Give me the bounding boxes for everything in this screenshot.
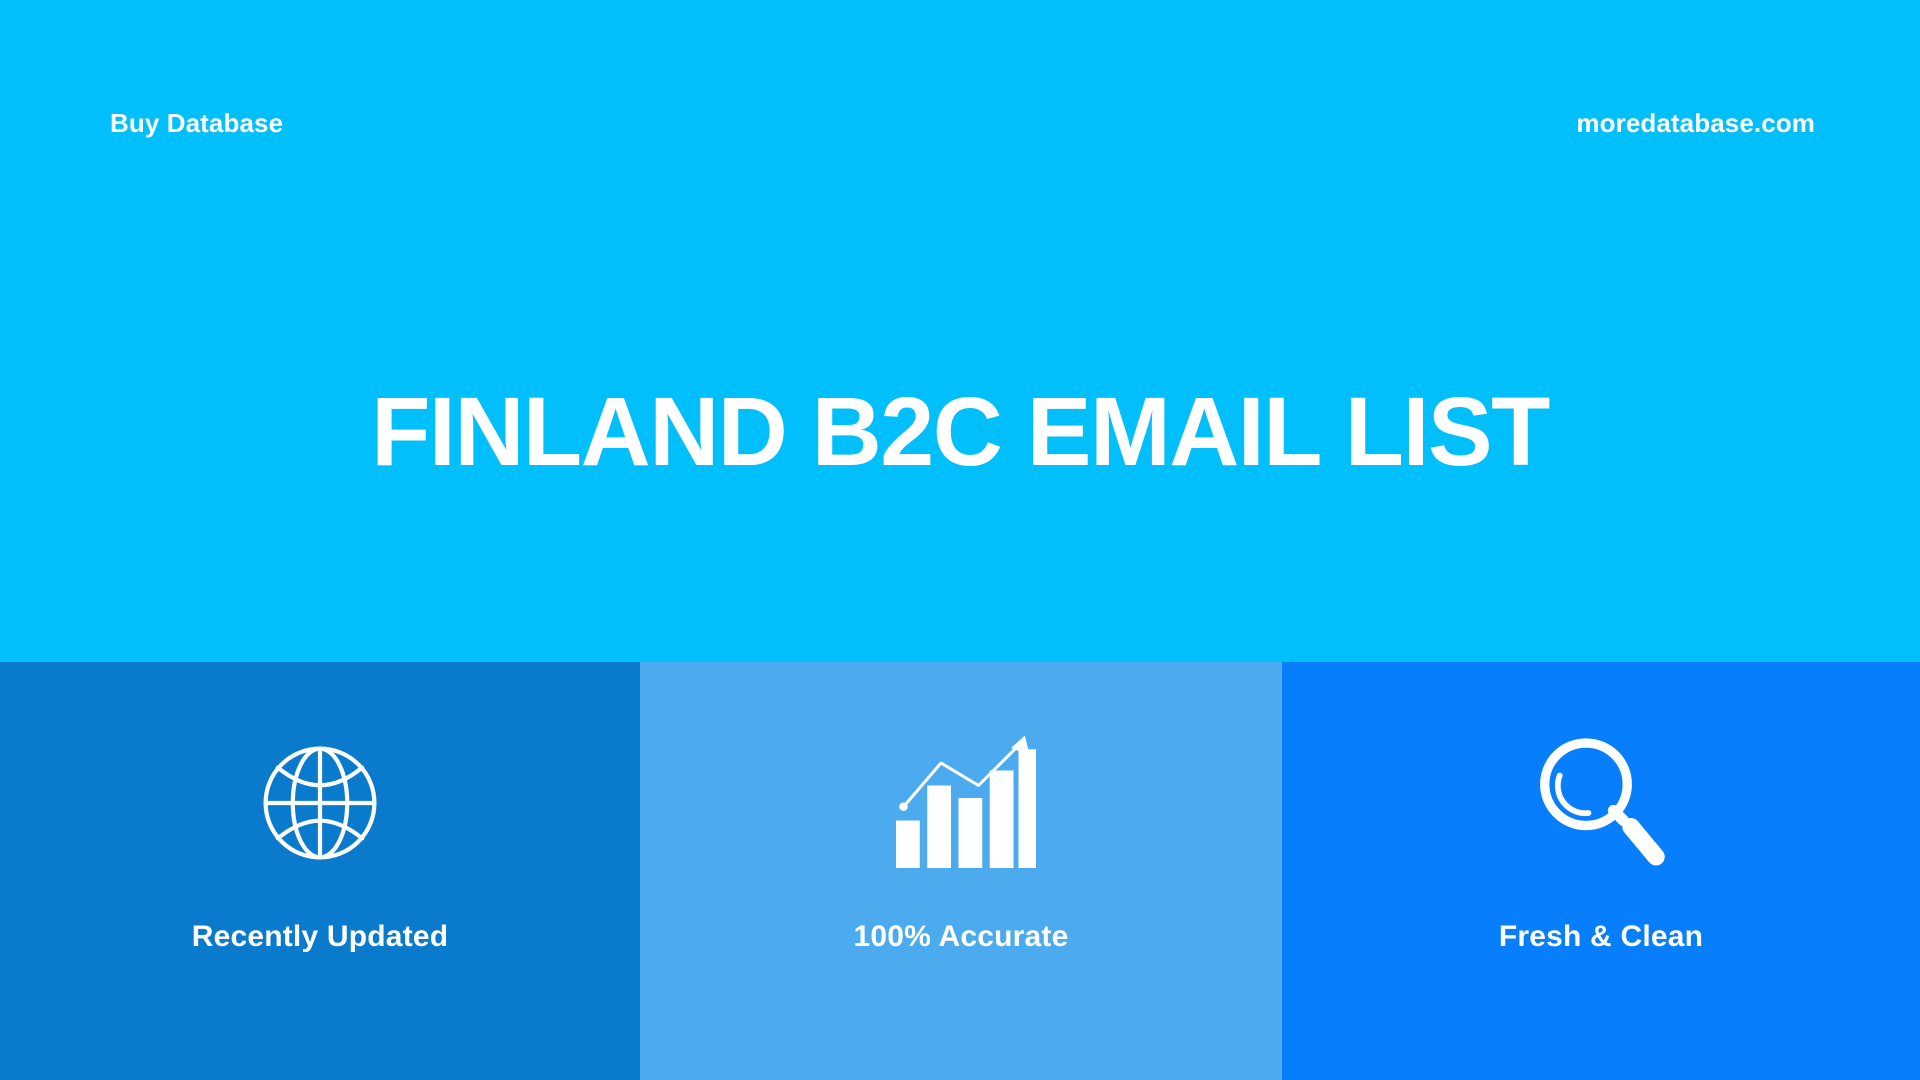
feature-label: 100% Accurate [854,920,1069,954]
page-title: FINLAND B2C EMAIL LIST [0,383,1920,480]
feature-label: Recently Updated [192,920,449,954]
promotional-banner: Buy Database moredatabase.com FINLAND B2… [0,0,1920,1080]
feature-strip: Recently Updated [0,662,1920,1080]
globe-icon [252,728,388,878]
feature-card-fresh-clean: Fresh & Clean [1282,662,1920,1080]
magnifying-glass-icon [1526,728,1676,878]
brand-label: Buy Database [110,108,283,139]
growth-bar-chart-icon [886,728,1036,878]
feature-label: Fresh & Clean [1499,920,1703,954]
feature-card-100-accurate: 100% Accurate [640,662,1282,1080]
feature-card-recently-updated: Recently Updated [0,662,640,1080]
hero-section: Buy Database moredatabase.com FINLAND B2… [0,0,1920,662]
site-url-link[interactable]: moredatabase.com [1576,108,1815,139]
